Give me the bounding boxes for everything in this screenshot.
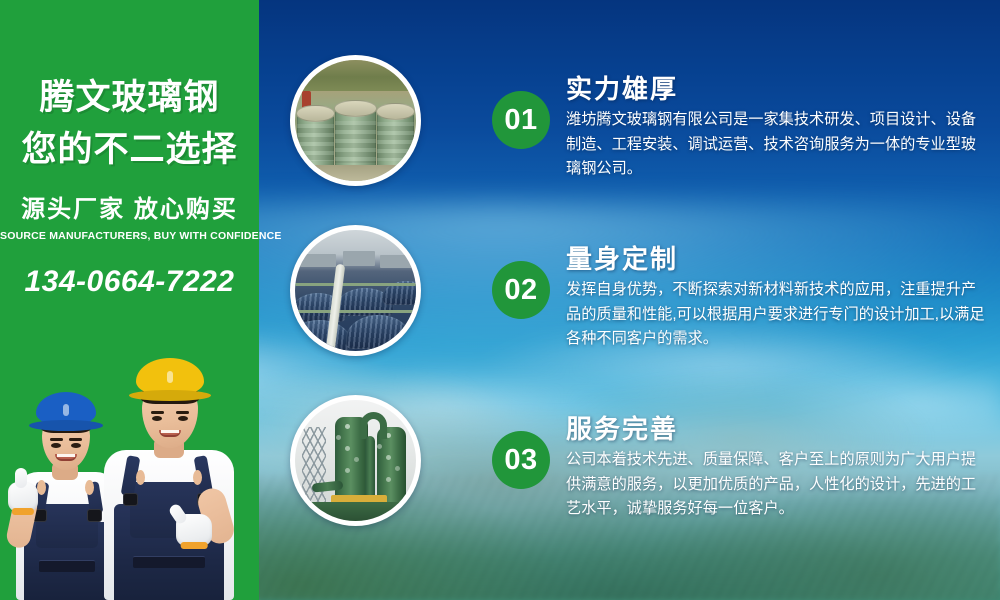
brand-headline-primary: 腾文玻璃钢 <box>0 80 259 115</box>
feature-copy-1: 实力雄厚 潍坊腾文玻璃钢有限公司是一家集技术研发、项目设计、设备制造、工程安装、… <box>566 75 991 182</box>
feature-copy-3: 服务完善 公司本着技术先进、质量保障、客户至上的原则为广大用户提供满意的服务，以… <box>566 415 991 522</box>
brand-tagline-english: SOURCE MANUFACTURERS, BUY WITH CONFIDENC… <box>0 230 259 242</box>
feature-copy-2: 量身定制 发挥自身优势，不断探索对新材料新技术的应用，注重提升产品的质量和性能,… <box>566 245 991 352</box>
contact-phone-number[interactable]: 134-0664-7222 <box>0 265 259 299</box>
feature-photo-1 <box>290 55 421 186</box>
worker-front <box>98 360 240 600</box>
workers-illustration <box>0 354 268 600</box>
green-scrubber-towers-image <box>295 400 416 521</box>
hard-hat-blue-icon <box>36 392 96 426</box>
brand-panel: 腾文玻璃钢 您的不二选择 源头厂家 放心购买 SOURCE MANUFACTUR… <box>0 0 259 600</box>
feature-number-badge-2: 02 <box>492 261 550 319</box>
promo-banner: 腾文玻璃钢 您的不二选择 源头厂家 放心购买 SOURCE MANUFACTUR… <box>0 0 1000 600</box>
hard-hat-yellow-icon <box>136 358 204 396</box>
feature-number-badge-1: 01 <box>492 91 550 149</box>
feature-description-3: 公司本着技术先进、质量保障、客户至上的原则为广大用户提供满意的服务，以更加优质的… <box>566 448 991 522</box>
brand-block: 腾文玻璃钢 您的不二选择 源头厂家 放心购买 SOURCE MANUFACTUR… <box>0 0 259 299</box>
brand-tagline-chinese: 源头厂家 放心购买 <box>0 189 259 224</box>
brand-headline-secondary: 您的不二选择 <box>0 132 259 167</box>
feature-photo-3 <box>290 395 421 526</box>
glove-thumbs-up-front <box>176 514 212 546</box>
glove-thumbs-up-back <box>8 482 38 512</box>
water-treatment-tank-covers-image <box>295 230 416 351</box>
feature-description-1: 潍坊腾文玻璃钢有限公司是一家集技术研发、项目设计、设备制造、工程安装、调试运营、… <box>566 108 991 182</box>
feature-number-badge-3: 03 <box>492 431 550 489</box>
feature-description-2: 发挥自身优势，不断探索对新材料新技术的应用，注重提升产品的质量和性能,可以根据用… <box>566 278 991 352</box>
feature-title-3: 服务完善 <box>566 415 991 444</box>
green-frp-storage-tanks-image <box>295 60 416 181</box>
feature-title-2: 量身定制 <box>566 245 991 274</box>
feature-title-1: 实力雄厚 <box>566 75 991 104</box>
feature-photo-2 <box>290 225 421 356</box>
